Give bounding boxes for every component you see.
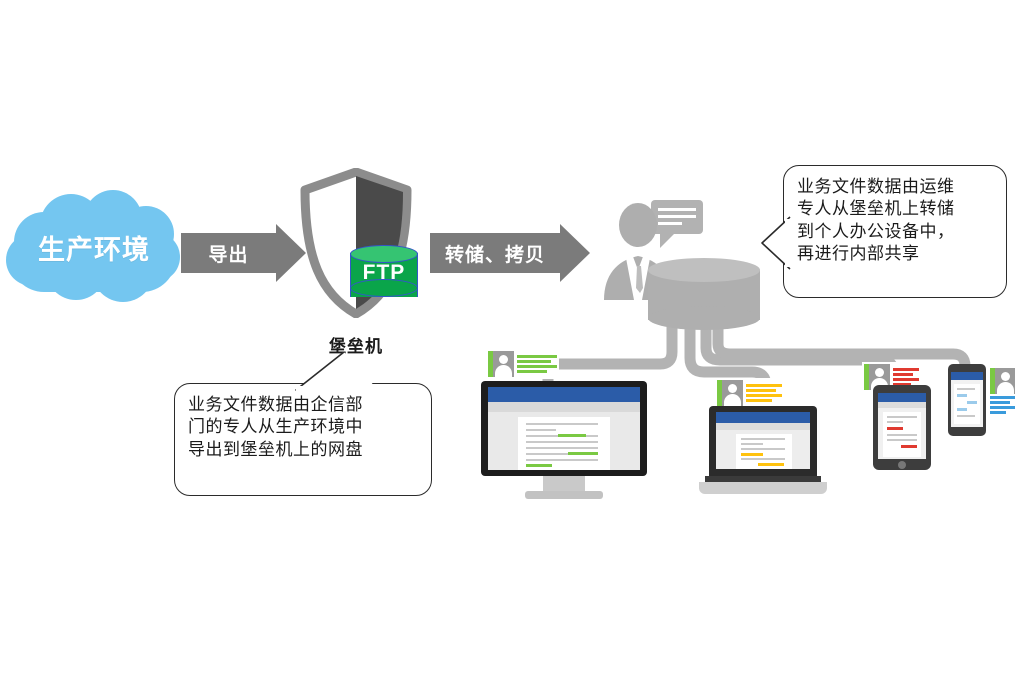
monitor-screen xyxy=(488,387,640,470)
callout-right-line-4: 再进行内部共享 xyxy=(797,243,993,265)
avatar xyxy=(717,380,743,406)
diagram-canvas: 生产环境 导出 FTP 堡垒机 转储、拷贝 xyxy=(0,0,1015,675)
callout-left: 业务文件数据由企信部 门的专人从生产环境中 导出到堡垒机上的网盘 xyxy=(174,383,432,496)
callout-right-line-1: 业务文件数据由运维 xyxy=(797,176,993,198)
avatar xyxy=(488,351,514,377)
card-lines xyxy=(517,351,557,377)
callout-right-line-2: 专人从堡垒机上转储 xyxy=(797,198,993,220)
callout-right: 业务文件数据由运维 专人从堡垒机上转储 到个人办公设备中， 再进行内部共享 xyxy=(783,165,1007,298)
contact-card-phone-lines xyxy=(988,394,1015,416)
callout-right-line-3: 到个人办公设备中， xyxy=(797,221,993,243)
tablet-screen xyxy=(878,393,926,459)
card-lines xyxy=(746,380,782,406)
laptop-screen xyxy=(716,412,810,469)
contact-card-laptop xyxy=(715,378,784,408)
callout-left-line-1: 业务文件数据由企信部 xyxy=(188,394,418,416)
card-lines xyxy=(990,396,1015,414)
tablet-document xyxy=(883,412,921,457)
monitor-document xyxy=(518,417,610,470)
shared-storage-disk xyxy=(648,258,760,332)
phone-document xyxy=(954,384,980,424)
device-tablet xyxy=(873,385,931,470)
contact-card-phone xyxy=(988,366,1015,396)
contact-card-monitor xyxy=(486,349,559,379)
callout-left-line-2: 门的专人从生产环境中 xyxy=(188,416,418,438)
callout-right-tail xyxy=(758,215,792,275)
device-desktop-monitor xyxy=(481,381,647,506)
connection-pipes xyxy=(0,0,1015,675)
device-smartphone xyxy=(948,364,986,436)
device-laptop xyxy=(699,406,827,498)
laptop-document xyxy=(736,434,792,469)
avatar xyxy=(990,368,1015,394)
phone-screen xyxy=(951,372,983,427)
callout-left-tail xyxy=(290,350,380,392)
callout-left-line-3: 导出到堡垒机上的网盘 xyxy=(188,439,418,461)
